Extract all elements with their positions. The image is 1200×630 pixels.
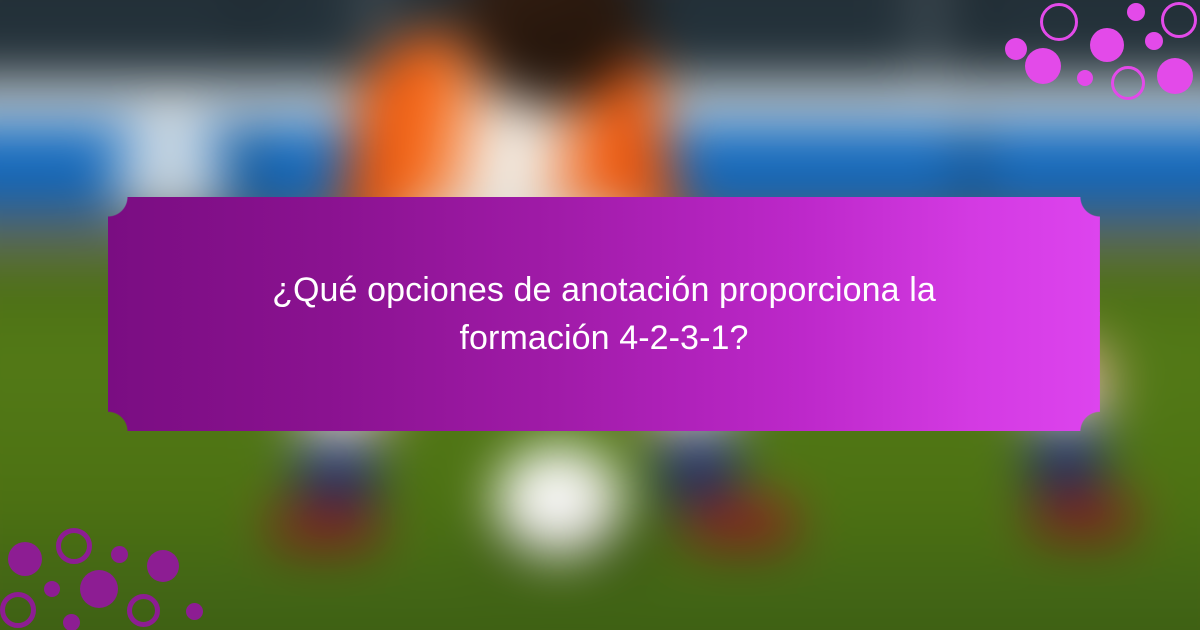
decorative-bubble xyxy=(1077,70,1093,86)
decorative-bubble xyxy=(1005,38,1027,60)
decorative-bubble xyxy=(8,542,42,576)
decorative-bubble xyxy=(1090,28,1124,62)
page-title: ¿Qué opciones de anotación proporciona l… xyxy=(209,266,999,362)
decorative-bubbles-top-right xyxy=(985,0,1200,125)
decorative-bubble xyxy=(127,594,160,627)
decorative-bubble xyxy=(44,581,60,597)
decorative-bubble xyxy=(147,550,179,582)
decorative-bubble xyxy=(186,603,203,620)
decorative-bubble xyxy=(1161,2,1197,38)
decorative-bubble xyxy=(1157,58,1193,94)
headline-banner: ¿Qué opciones de anotación proporciona l… xyxy=(108,197,1100,431)
decorative-bubble xyxy=(1127,3,1145,21)
decorative-bubble xyxy=(1145,32,1163,50)
decorative-bubble xyxy=(0,592,36,628)
decorative-bubble xyxy=(63,614,80,630)
second-player-boot xyxy=(1030,495,1135,537)
decorative-bubble xyxy=(1025,48,1061,84)
decorative-bubble xyxy=(1111,66,1145,100)
player-right-boot xyxy=(685,500,795,546)
player-left-boot xyxy=(270,505,380,547)
soccer-ball-icon xyxy=(495,445,625,557)
decorative-bubble xyxy=(1040,3,1078,41)
decorative-bubble xyxy=(111,546,128,563)
decorative-bubbles-bottom-left xyxy=(0,500,230,630)
social-card: ¿Qué opciones de anotación proporciona l… xyxy=(0,0,1200,630)
decorative-bubble xyxy=(56,528,92,564)
decorative-bubble xyxy=(80,570,118,608)
